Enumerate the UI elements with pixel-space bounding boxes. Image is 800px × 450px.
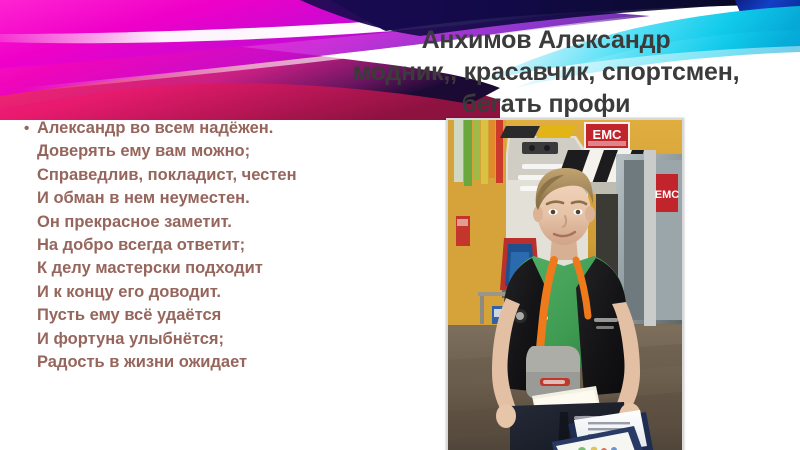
- poem-line: Александр во всем надёжен.: [37, 117, 424, 140]
- poem-line: Пусть ему всё удаётся: [37, 304, 424, 327]
- poem-line: К делу мастерски подходит: [37, 257, 424, 280]
- page-title: Анхимов Александр модник,, красавчик, сп…: [300, 24, 792, 120]
- poem-text-block: • Александр во всем надёжен. Доверять ем…: [24, 117, 424, 374]
- title-line-2: модник,, красавчик, спортсмен,: [300, 56, 792, 88]
- svg-text:EMC: EMC: [655, 189, 680, 201]
- poem-lines: Александр во всем надёжен. Доверять ему …: [37, 117, 424, 374]
- poem-line: И к концу его доводит.: [37, 281, 424, 304]
- bullet-list-item: • Александр во всем надёжен. Доверять ем…: [24, 117, 424, 374]
- poem-line: И фортуна улыбнётся;: [37, 328, 424, 351]
- bullet-icon: •: [24, 117, 37, 140]
- presentation-slide: Анхимов Александр модник,, красавчик, сп…: [0, 0, 800, 450]
- poem-line: Он прекрасное заметит.: [37, 211, 424, 234]
- portrait-photo: EMC EMC: [446, 118, 684, 450]
- poem-line: И обман в нем неуместен.: [37, 187, 424, 210]
- svg-text:EMC: EMC: [593, 127, 623, 142]
- poem-line: Радость в жизни ожидает: [37, 351, 424, 374]
- title-line-3: бегать профи: [300, 88, 792, 120]
- poem-line: На добро всегда ответит;: [37, 234, 424, 257]
- poem-line: Доверять ему вам можно;: [37, 140, 424, 163]
- poem-line: Справедлив, покладист, честен: [37, 164, 424, 187]
- title-line-1: Анхимов Александр: [300, 24, 792, 56]
